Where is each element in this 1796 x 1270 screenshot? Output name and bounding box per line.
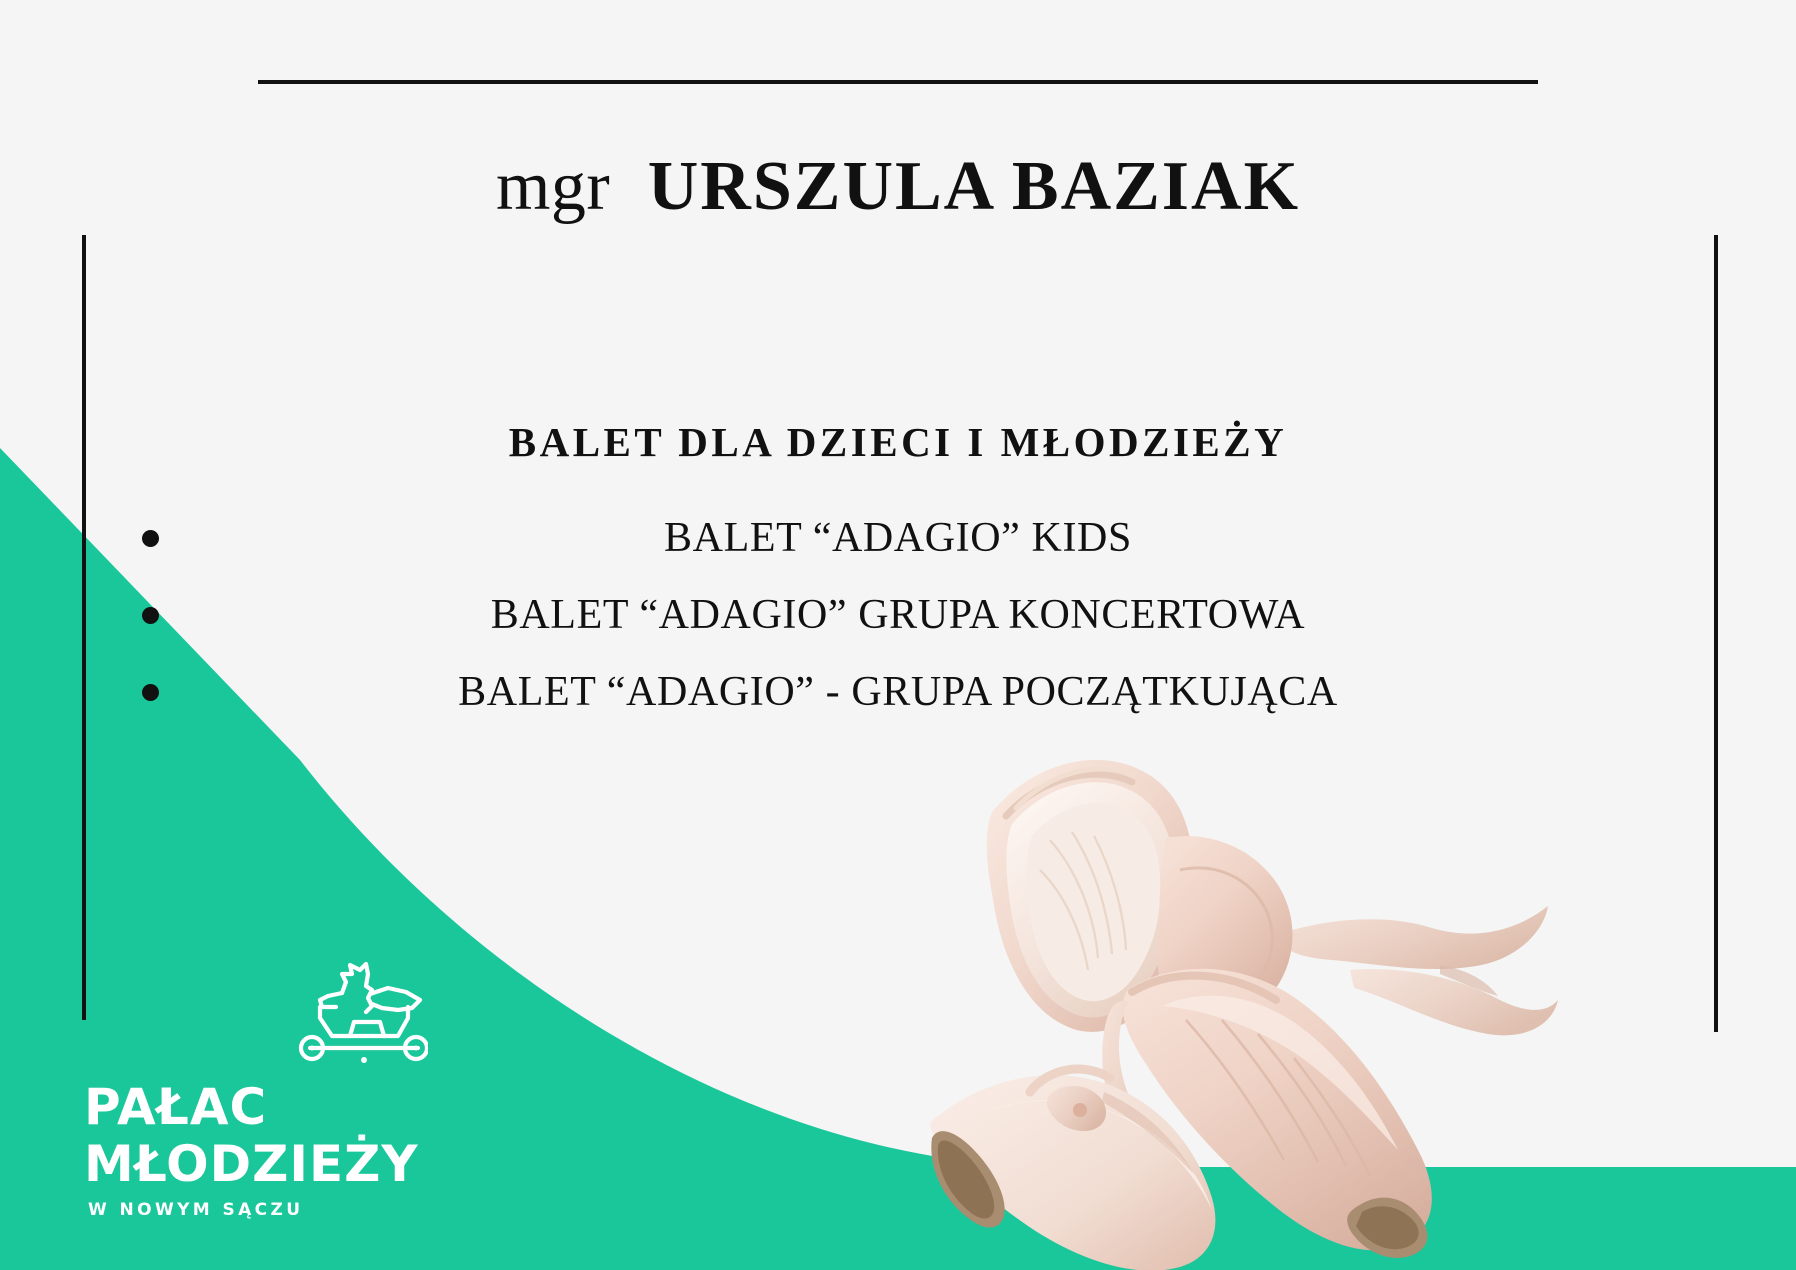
list-item-label: BALET “ADAGIO” GRUPA KONCERTOWA [491, 592, 1305, 638]
organization-logo: PAŁAC MŁODZIEŻY W NOWYM SĄCZU [84, 960, 414, 1210]
bullet-dot-icon [142, 530, 159, 547]
list-item-label: BALET “ADAGIO” KIDS [664, 515, 1132, 561]
bullet-dot-icon [142, 684, 159, 701]
list-item: BALET “ADAGIO” GRUPA KONCERTOWA [0, 577, 1796, 654]
slide-canvas: mgr URSZULA BAZIAK BALET DLA DZIECI I MŁ… [0, 0, 1796, 1270]
list-item: BALET “ADAGIO” KIDS [0, 500, 1796, 577]
section-title: BALET DLA DZIECI I MŁODZIEŻY [0, 418, 1796, 466]
page-title-prefix: mgr [496, 148, 628, 225]
bullet-dot-icon [142, 607, 159, 624]
list-item-label: BALET “ADAGIO” - GRUPA POCZĄTKUJĄCA [458, 669, 1338, 715]
logo-wordmark: PAŁAC MŁODZIEŻY [84, 1082, 419, 1189]
decor-top-rule [258, 80, 1538, 84]
logo-line-1: PAŁAC [84, 1082, 419, 1132]
page-title: mgr URSZULA BAZIAK [0, 150, 1796, 224]
logo-subtitle: W NOWYM SĄCZU [88, 1200, 303, 1220]
program-list: BALET “ADAGIO” KIDS BALET “ADAGIO” GRUPA… [0, 500, 1796, 731]
ballet-pointe-shoes-photo [880, 720, 1560, 1270]
pegasus-chariot-icon [280, 960, 428, 1088]
page-title-name: URSZULA BAZIAK [628, 148, 1300, 225]
logo-line-2: MŁODZIEŻY [84, 1139, 419, 1189]
